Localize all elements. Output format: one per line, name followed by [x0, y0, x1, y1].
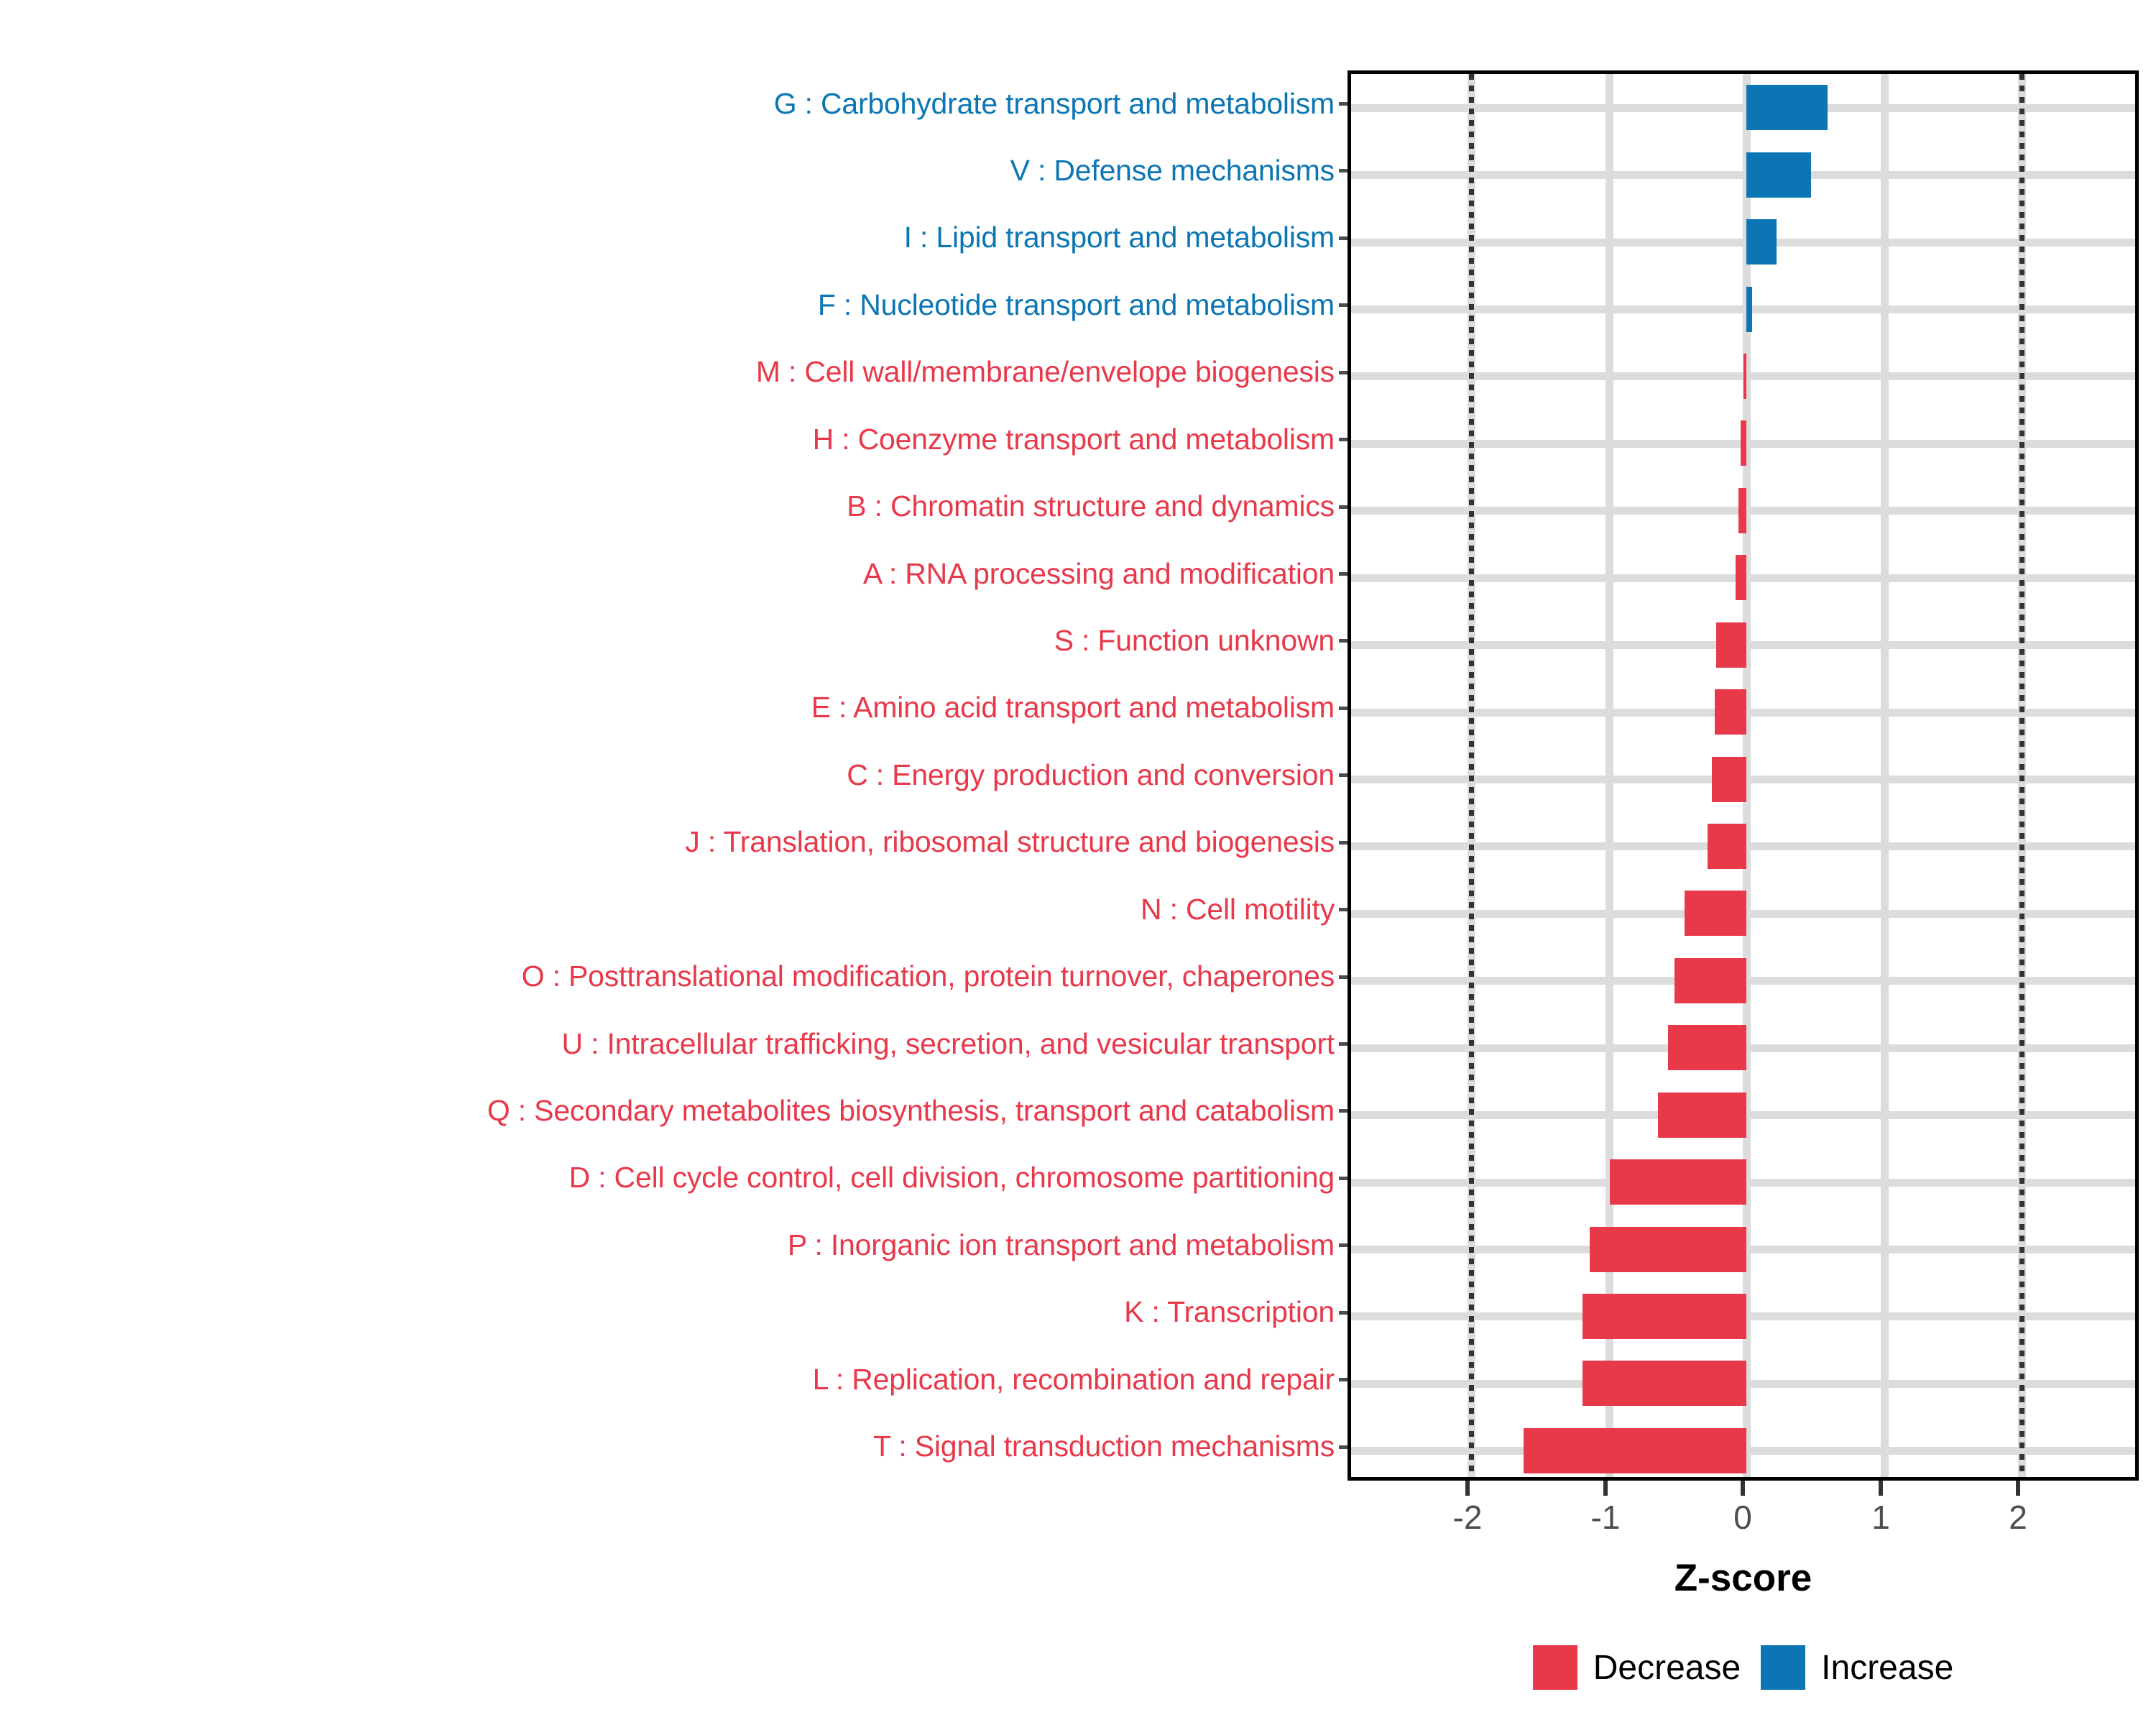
y-axis-tick-mark [1339, 1177, 1347, 1180]
x-axis-tick-label: -2 [1453, 1498, 1483, 1537]
x-axis-tick-label: 0 [1733, 1498, 1752, 1537]
cog-zscore-bar-chart: G : Carbohydrate transport and metabolis… [0, 0, 2156, 1725]
y-axis-label-row: Q : Secondary metabolites biosynthesis, … [0, 1077, 1347, 1144]
bar [1668, 1025, 1746, 1070]
bar [1741, 420, 1746, 466]
y-axis-label-row: B : Chromatin structure and dynamics [0, 474, 1347, 540]
bar [1708, 824, 1746, 869]
y-axis-category-label: D : Cell cycle control, cell division, c… [569, 1163, 1335, 1192]
y-axis-category-label: P : Inorganic ion transport and metaboli… [788, 1230, 1335, 1260]
y-axis-category-label: Q : Secondary metabolites biosynthesis, … [487, 1096, 1335, 1126]
y-axis-category-label: O : Posttranslational modification, prot… [522, 962, 1335, 991]
y-axis-tick-mark [1339, 1243, 1347, 1247]
legend-label: Decrease [1593, 1648, 1741, 1688]
y-axis-category-label: M : Cell wall/membrane/envelope biogenes… [756, 357, 1335, 387]
y-axis-label-row: K : Transcription [0, 1279, 1347, 1345]
y-axis-label-row: O : Posttranslational modification, prot… [0, 944, 1347, 1010]
x-axis-tick-label: 2 [2009, 1498, 2027, 1537]
y-axis-tick-mark [1339, 438, 1347, 441]
y-axis-label-row: G : Carbohydrate transport and metabolis… [0, 70, 1347, 137]
y-axis-tick-mark [1339, 1109, 1347, 1113]
legend-color-swatch [1761, 1645, 1805, 1690]
y-axis-category-label: G : Carbohydrate transport and metabolis… [774, 89, 1335, 119]
y-axis-label-row: J : Translation, ribosomal structure and… [0, 809, 1347, 875]
y-axis-category-label: C : Energy production and conversion [847, 760, 1335, 790]
y-axis-label-row: A : RNA processing and modification [0, 540, 1347, 607]
x-axis-title: Z-score [1347, 1556, 2139, 1600]
bar [1738, 488, 1746, 533]
bar [1746, 287, 1752, 332]
y-axis-tick-mark [1339, 1311, 1347, 1315]
y-axis-category-labels: G : Carbohydrate transport and metabolis… [0, 70, 1347, 1481]
y-axis-label-row: U : Intracellular trafficking, secretion… [0, 1011, 1347, 1077]
y-axis-tick-mark [1339, 707, 1347, 710]
legend-entry[interactable]: Increase [1761, 1645, 1953, 1690]
x-axis-tick-mark [1879, 1481, 1883, 1496]
bar [1583, 1294, 1746, 1339]
x-axis-tick-mark [1741, 1481, 1745, 1496]
y-axis-category-label: U : Intracellular trafficking, secretion… [561, 1029, 1335, 1059]
y-axis-category-label: J : Translation, ribosomal structure and… [685, 827, 1335, 857]
x-axis-tick-mark [1465, 1481, 1470, 1496]
y-axis-label-row: L : Replication, recombination and repai… [0, 1346, 1347, 1412]
legend-label: Increase [1821, 1648, 1953, 1688]
y-axis-category-label: S : Function unknown [1054, 626, 1335, 655]
bar [1715, 689, 1746, 735]
y-axis-tick-mark [1339, 841, 1347, 845]
y-axis-tick-mark [1339, 236, 1347, 240]
y-axis-label-row: T : Signal transduction mechanisms [0, 1414, 1347, 1480]
y-axis-label-row: I : Lipid transport and metabolism [0, 205, 1347, 271]
y-axis-tick-mark [1339, 169, 1347, 172]
bar [1746, 219, 1777, 264]
y-axis-label-row: E : Amino acid transport and metabolism [0, 675, 1347, 741]
y-axis-label-row: M : Cell wall/membrane/envelope biogenes… [0, 339, 1347, 405]
bar [1590, 1227, 1746, 1272]
legend-entry[interactable]: Decrease [1533, 1645, 1741, 1690]
y-axis-category-label: E : Amino acid transport and metabolism [811, 693, 1335, 722]
bar [1610, 1159, 1746, 1205]
gridline-vertical [1881, 74, 1889, 1477]
y-axis-tick-mark [1339, 1378, 1347, 1381]
y-axis-tick-mark [1339, 773, 1347, 777]
y-axis-tick-mark [1339, 975, 1347, 979]
bar [1746, 85, 1828, 130]
y-axis-tick-mark [1339, 303, 1347, 307]
y-axis-category-label: F : Nucleotide transport and metabolism [818, 290, 1335, 320]
bar [1743, 354, 1746, 399]
y-axis-label-row: V : Defense mechanisms [0, 137, 1347, 203]
y-axis-category-label: B : Chromatin structure and dynamics [847, 492, 1335, 521]
bar [1736, 555, 1746, 600]
plot-panel [1347, 70, 2139, 1481]
bar [1524, 1428, 1746, 1473]
y-axis-tick-mark [1339, 908, 1347, 911]
x-axis-tick-label: -1 [1591, 1498, 1621, 1537]
reference-line [2019, 74, 2024, 1477]
x-axis-tick-mark [1603, 1481, 1608, 1496]
y-axis-tick-mark [1339, 371, 1347, 374]
y-axis-label-row: P : Inorganic ion transport and metaboli… [0, 1212, 1347, 1278]
y-axis-category-label: I : Lipid transport and metabolism [904, 223, 1335, 252]
bar [1716, 622, 1746, 668]
x-axis: -2-1012 [1347, 1481, 2139, 1567]
y-axis-category-label: L : Replication, recombination and repai… [813, 1365, 1335, 1394]
x-axis-tick-mark [2016, 1481, 2020, 1496]
bar [1712, 757, 1746, 802]
y-axis-label-row: C : Energy production and conversion [0, 742, 1347, 808]
y-axis-label-row: D : Cell cycle control, cell division, c… [0, 1145, 1347, 1211]
bar [1685, 891, 1746, 936]
y-axis-category-label: N : Cell motility [1141, 895, 1335, 924]
legend: DecreaseIncrease [1347, 1639, 2139, 1696]
y-axis-tick-mark [1339, 572, 1347, 576]
y-axis-label-row: F : Nucleotide transport and metabolism [0, 272, 1347, 338]
bar [1746, 152, 1811, 198]
y-axis-category-label: A : RNA processing and modification [863, 559, 1335, 589]
y-axis-tick-mark [1339, 102, 1347, 106]
y-axis-tick-mark [1339, 505, 1347, 509]
bar [1674, 958, 1746, 1003]
y-axis-category-label: V : Defense mechanisms [1010, 156, 1335, 185]
y-axis-tick-mark [1339, 1445, 1347, 1449]
legend-color-swatch [1533, 1645, 1577, 1690]
bar [1658, 1092, 1746, 1138]
y-axis-label-row: H : Coenzyme transport and metabolism [0, 406, 1347, 472]
bar [1583, 1361, 1746, 1406]
y-axis-label-row: N : Cell motility [0, 876, 1347, 942]
x-axis-tick-label: 1 [1871, 1498, 1890, 1537]
y-axis-tick-mark [1339, 1042, 1347, 1046]
y-axis-category-label: T : Signal transduction mechanisms [873, 1432, 1335, 1461]
y-axis-category-label: H : Coenzyme transport and metabolism [813, 425, 1335, 454]
y-axis-tick-mark [1339, 639, 1347, 643]
y-axis-category-label: K : Transcription [1124, 1297, 1335, 1327]
y-axis-label-row: S : Function unknown [0, 607, 1347, 673]
reference-line [1469, 74, 1474, 1477]
